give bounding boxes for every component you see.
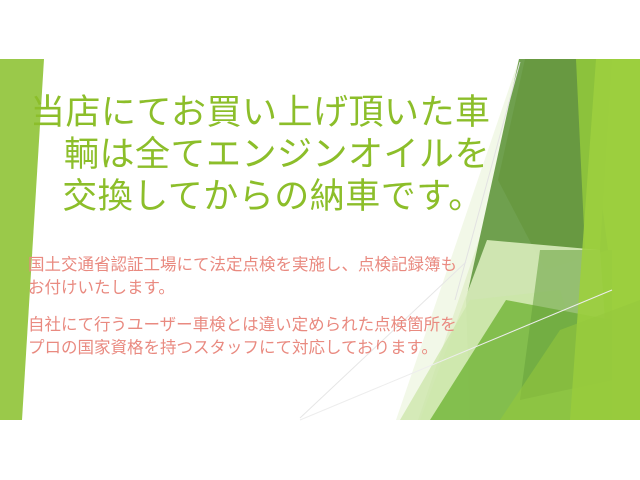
title-line-3: 交換してからの納車です。 bbox=[26, 176, 510, 218]
body-line-2-1: 自社にて行うユーザー車検とは違い定められた点検箇所を bbox=[28, 314, 528, 337]
slide-content: 当店にてお買い上げ頂いた車 輌は全てエンジンオイルを 交換してからの納車です。 … bbox=[0, 0, 640, 480]
slide-body: 国土交通省認証工場にて法定点検を実施し、点検記録簿も お付けいたします。 自社に… bbox=[28, 254, 528, 360]
title-line-1: 当店にてお買い上げ頂いた車 bbox=[26, 92, 510, 134]
body-paragraph-1: 国土交通省認証工場にて法定点検を実施し、点検記録簿も お付けいたします。 bbox=[28, 254, 528, 300]
slide-title: 当店にてお買い上げ頂いた車 輌は全てエンジンオイルを 交換してからの納車です。 bbox=[26, 92, 510, 218]
body-line-1-1: 国土交通省認証工場にて法定点検を実施し、点検記録簿も bbox=[28, 254, 528, 277]
body-paragraph-2: 自社にて行うユーザー車検とは違い定められた点検箇所を プロの国家資格を持つスタッ… bbox=[28, 314, 528, 360]
slide-canvas: 当店にてお買い上げ頂いた車 輌は全てエンジンオイルを 交換してからの納車です。 … bbox=[0, 0, 640, 480]
body-line-1-2: お付けいたします。 bbox=[28, 277, 528, 300]
title-line-2: 輌は全てエンジンオイルを bbox=[26, 134, 510, 176]
body-line-2-2: プロの国家資格を持つスタッフにて対応しております。 bbox=[28, 337, 528, 360]
